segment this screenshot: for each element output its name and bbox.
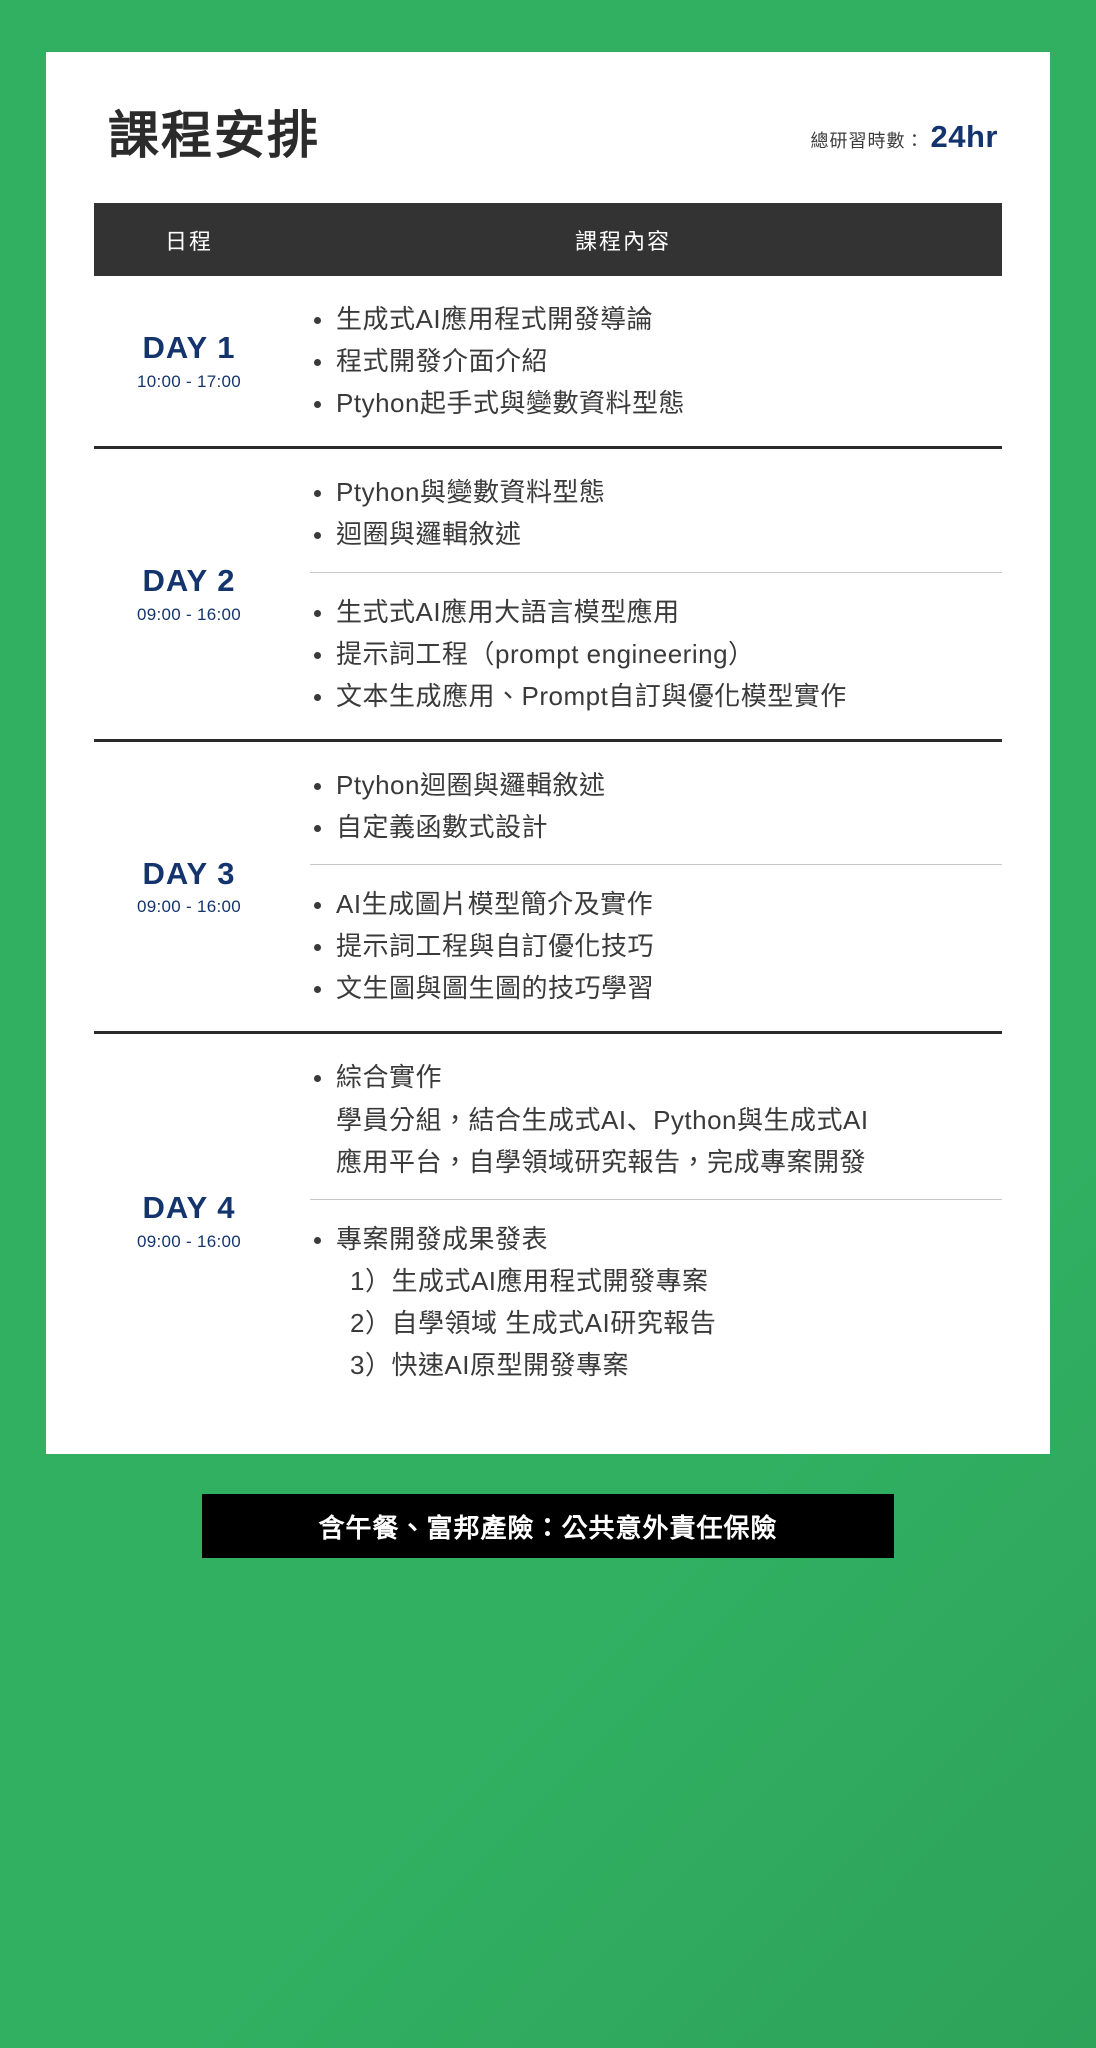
footer-banner-text: 含午餐、富邦產險：公共意外責任保險 [318,1508,777,1545]
bullet-item: Ptyhon與變數資料型態 [310,471,1002,513]
content-cell: Ptyhon迴圈與邏輯敘述自定義函數式設計AI生成圖片模型簡介及實作提示詞工程與… [284,742,1002,1032]
column-header-content: 課程內容 [284,224,1002,256]
bullet-item: 程式開發介面介紹 [310,340,1002,382]
card-header: 課程安排 總研習時數： 24hr [46,110,1050,161]
table-row: DAY 409:00 - 16:00綜合實作學員分組，結合生成式AI、Pytho… [94,1034,1002,1408]
bullet-list: 生式式AI應用大語言模型應用提示詞工程（prompt engineering）文… [310,591,1002,717]
bullet-item: 綜合實作 [310,1056,1002,1098]
table-row: DAY 110:00 - 17:00生成式AI應用程式開發導論程式開發介面介紹P… [94,276,1002,449]
numbered-item: 3）快速AI原型開發專案 [350,1344,1002,1386]
day-cell: DAY 309:00 - 16:00 [94,742,284,1032]
content-cell: 生成式AI應用程式開發導論程式開發介面介紹Ptyhon起手式與變數資料型態 [284,276,1002,446]
content-group: 綜合實作學員分組，結合生成式AI、Python與生成式AI應用平台，自學領域研究… [310,1056,1002,1182]
content-group: AI生成圖片模型簡介及實作提示詞工程與自訂優化技巧文生圖與圖生圖的技巧學習 [310,864,1002,1009]
bullet-item: Ptyhon迴圈與邏輯敘述 [310,764,1002,806]
bullet-list: Ptyhon與變數資料型態迴圈與邏輯敘述 [310,471,1002,555]
table-row: DAY 309:00 - 16:00Ptyhon迴圈與邏輯敘述自定義函數式設計A… [94,742,1002,1035]
bullet-list: 專案開發成果發表 [310,1218,1002,1260]
bullet-item: 提示詞工程（prompt engineering） [310,633,1002,675]
numbered-item: 2）自學領域 生成式AI研究報告 [350,1302,1002,1344]
content-group: 生成式AI應用程式開發導論程式開發介面介紹Ptyhon起手式與變數資料型態 [310,298,1002,424]
content-group: Ptyhon迴圈與邏輯敘述自定義函數式設計 [310,764,1002,848]
table-row: DAY 209:00 - 16:00Ptyhon與變數資料型態迴圈與邏輯敘述生式… [94,449,1002,742]
day-time: 10:00 - 17:00 [137,372,241,392]
bullet-list: AI生成圖片模型簡介及實作提示詞工程與自訂優化技巧文生圖與圖生圖的技巧學習 [310,883,1002,1009]
bullet-list: 綜合實作 [310,1056,1002,1098]
day-time: 09:00 - 16:00 [137,605,241,625]
bullet-item: 文生圖與圖生圖的技巧學習 [310,967,1002,1009]
day-label: DAY 2 [143,563,236,599]
content-group: 生式式AI應用大語言模型應用提示詞工程（prompt engineering）文… [310,572,1002,717]
bullet-item: 生式式AI應用大語言模型應用 [310,591,1002,633]
bullet-item: 生成式AI應用程式開發導論 [310,298,1002,340]
day-cell: DAY 209:00 - 16:00 [94,449,284,739]
content-group: Ptyhon與變數資料型態迴圈與邏輯敘述 [310,471,1002,555]
sub-line: 學員分組，結合生成式AI、Python與生成式AI [310,1099,1002,1141]
bullet-item: 文本生成應用、Prompt自訂與優化模型實作 [310,675,1002,717]
day-label: DAY 4 [143,1190,236,1226]
bullet-item: 迴圈與邏輯敘述 [310,513,1002,555]
sub-line: 應用平台，自學領域研究報告，完成專案開發 [310,1141,1002,1183]
bullet-item: AI生成圖片模型簡介及實作 [310,883,1002,925]
footer-banner: 含午餐、富邦產險：公共意外責任保險 [202,1494,894,1558]
bullet-list: Ptyhon迴圈與邏輯敘述自定義函數式設計 [310,764,1002,848]
total-hours-value: 24hr [931,119,998,155]
content-cell: Ptyhon與變數資料型態迴圈與邏輯敘述生式式AI應用大語言模型應用提示詞工程（… [284,449,1002,739]
column-header-day: 日程 [94,224,284,256]
content-group: 專案開發成果發表1）生成式AI應用程式開發專案2）自學領域 生成式AI研究報告3… [310,1199,1002,1386]
content-cell: 綜合實作學員分組，結合生成式AI、Python與生成式AI應用平台，自學領域研究… [284,1034,1002,1408]
day-cell: DAY 110:00 - 17:00 [94,276,284,446]
day-cell: DAY 409:00 - 16:00 [94,1034,284,1408]
page-title: 課程安排 [108,110,320,161]
numbered-list: 1）生成式AI應用程式開發專案2）自學領域 生成式AI研究報告3）快速AI原型開… [310,1260,1002,1386]
day-time: 09:00 - 16:00 [137,1232,241,1252]
bullet-item: Ptyhon起手式與變數資料型態 [310,382,1002,424]
day-label: DAY 1 [143,330,236,366]
poster: 課程安排 總研習時數： 24hr 日程 課程內容 DAY 110:00 - 17… [0,0,1096,2048]
schedule-table: 日程 課程內容 DAY 110:00 - 17:00生成式AI應用程式開發導論程… [46,203,1050,1408]
bullet-item: 提示詞工程與自訂優化技巧 [310,925,1002,967]
day-label: DAY 3 [143,856,236,892]
schedule-card: 課程安排 總研習時數： 24hr 日程 課程內容 DAY 110:00 - 17… [46,52,1050,1454]
bullet-item: 自定義函數式設計 [310,806,1002,848]
bullet-list: 生成式AI應用程式開發導論程式開發介面介紹Ptyhon起手式與變數資料型態 [310,298,1002,424]
numbered-item: 1）生成式AI應用程式開發專案 [350,1260,1002,1302]
table-body: DAY 110:00 - 17:00生成式AI應用程式開發導論程式開發介面介紹P… [94,276,1002,1408]
day-time: 09:00 - 16:00 [137,897,241,917]
table-header-row: 日程 課程內容 [94,203,1002,276]
bullet-item: 專案開發成果發表 [310,1218,1002,1260]
total-hours-label: 總研習時數： [811,127,925,153]
total-hours: 總研習時數： 24hr [811,119,998,161]
